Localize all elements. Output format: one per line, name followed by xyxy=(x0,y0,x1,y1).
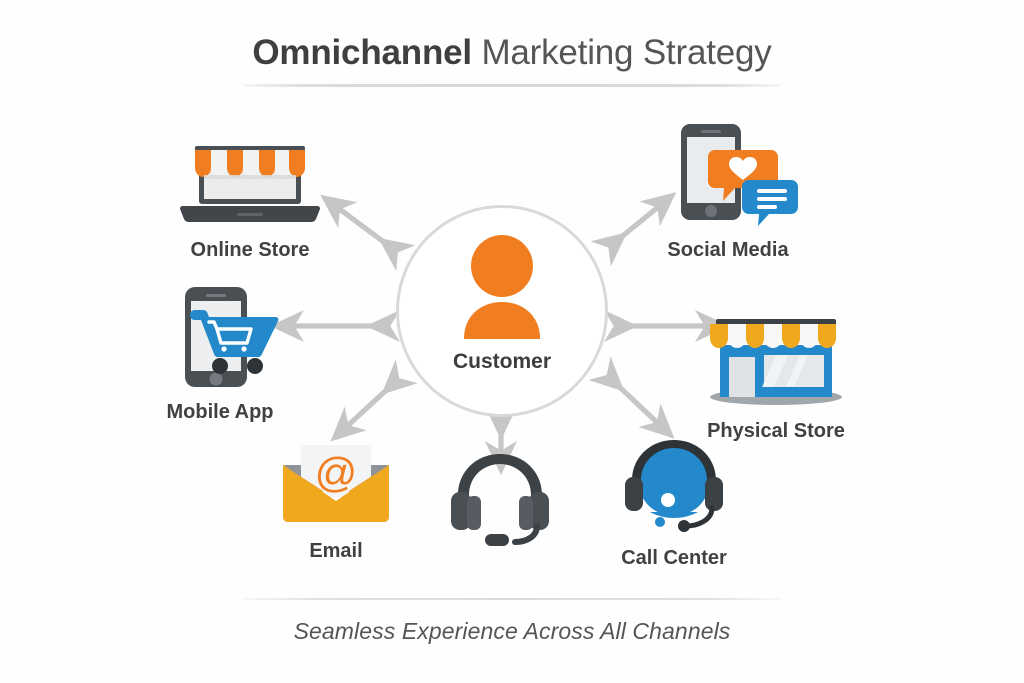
svg-text:@: @ xyxy=(315,449,358,496)
connector-hub-to-email xyxy=(343,383,394,430)
store-building-icon xyxy=(676,297,876,414)
headset-agent-icon xyxy=(584,432,764,541)
phone-speech-bubbles-icon xyxy=(628,118,828,233)
channel-node-mobile-app[interactable]: Mobile App xyxy=(122,285,318,424)
phone-shopping-cart-icon xyxy=(122,285,318,395)
channel-label-email: Email xyxy=(246,540,426,563)
channel-node-online-store[interactable]: Online Store xyxy=(150,128,350,262)
channel-node-call-center[interactable]: Call Center xyxy=(584,432,764,570)
channel-node-email[interactable]: @ Email xyxy=(246,441,426,563)
channel-label-mobile-app: Mobile App xyxy=(122,401,318,424)
diagram-canvas: Omnichannel Marketing Strategy Customer xyxy=(0,0,1024,683)
customer-hub[interactable]: Customer xyxy=(396,205,608,417)
customer-hub-label: Customer xyxy=(399,350,605,374)
connector-hub-to-call-center xyxy=(612,380,662,427)
laptop-storefront-icon xyxy=(150,128,350,233)
channel-node-physical-store[interactable]: Physical Store xyxy=(676,297,876,443)
headset-icon xyxy=(440,448,560,553)
footer-caption: Seamless Experience Across All Channels xyxy=(0,618,1024,645)
footer-divider xyxy=(243,598,781,600)
channel-label-social-media: Social Media xyxy=(628,239,828,262)
channel-node-social-media[interactable]: Social Media xyxy=(628,118,828,262)
channel-label-online-store: Online Store xyxy=(150,239,350,262)
footer-block: Seamless Experience Across All Channels xyxy=(0,598,1024,645)
customer-person-icon xyxy=(446,234,558,346)
envelope-at-sign-icon: @ xyxy=(246,441,426,534)
channel-label-call-center: Call Center xyxy=(584,547,764,570)
support-headset-node[interactable] xyxy=(440,448,560,559)
